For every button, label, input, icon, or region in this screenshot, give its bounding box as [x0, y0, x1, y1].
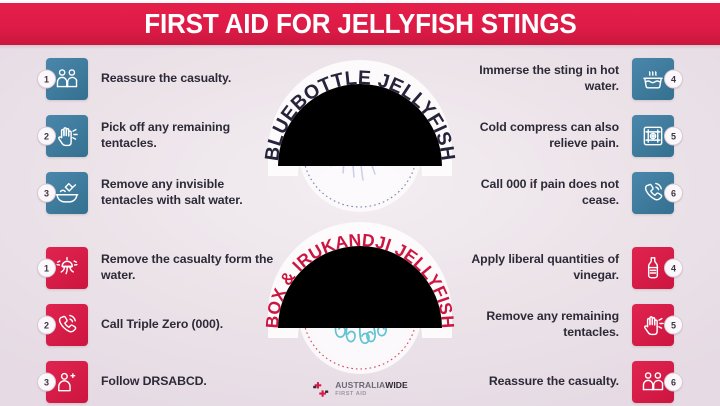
step-row-bluebottle-5[interactable]: Cold compress can also relieve pain. 5 — [442, 113, 674, 159]
step-icon-tile: 4 — [632, 247, 674, 289]
vinegar-bottle-icon — [640, 255, 666, 281]
step-icon-tile: 2 — [46, 115, 88, 157]
column-gap — [46, 227, 278, 245]
step-text: Call 000 if pain does not cease. — [442, 177, 619, 208]
brand-primary: AUSTRALIA — [335, 380, 385, 390]
step-row-box-4[interactable]: Apply liberal quantities of vinegar. 4 — [442, 245, 674, 291]
brand-tagline: FIRST AID — [335, 392, 408, 398]
phone-call-icon — [640, 180, 666, 206]
step-number-badge: 1 — [37, 259, 56, 278]
step-number-badge: 3 — [37, 184, 56, 203]
step-number-badge: 5 — [664, 127, 683, 146]
step-text: Immerse the sting in hot water. — [442, 63, 619, 94]
step-number-badge: 4 — [664, 70, 683, 89]
page-title: FIRST AID FOR JELLYFISH STINGS — [144, 8, 576, 40]
poster-header: FIRST AID FOR JELLYFISH STINGS — [0, 3, 720, 45]
brand-name: AUSTRALIAWIDE — [335, 381, 408, 390]
step-number-badge: 5 — [664, 316, 683, 335]
step-icon-tile: 1 — [46, 58, 88, 100]
step-text: Follow DRSABCD. — [101, 374, 207, 390]
hand-tentacles-icon — [640, 312, 666, 338]
step-row-bluebottle-2[interactable]: 2 Pick off any remaining tentacles. — [46, 113, 278, 159]
step-icon-tile: 6 — [632, 361, 674, 403]
step-row-box-6[interactable]: Reassure the casualty. 6 — [442, 359, 674, 405]
step-text: Remove the casualty form the water. — [101, 252, 278, 283]
hot-water-bucket-icon — [640, 66, 666, 92]
step-row-bluebottle-4[interactable]: Immerse the sting in hot water. 4 — [442, 56, 674, 102]
two-people-icon — [54, 66, 80, 92]
step-row-bluebottle-3[interactable]: 3 Remove any invisible tentacles with sa… — [46, 170, 278, 216]
step-icon-tile: 4 — [632, 58, 674, 100]
step-text: Remove any remaining tentacles. — [442, 309, 619, 340]
step-row-box-3[interactable]: 3 Follow DRSABCD. — [46, 359, 278, 405]
footer-brand-text: AUSTRALIAWIDE FIRST AID — [335, 381, 408, 397]
left-column: 1 Reassure the casualty. 2 Pick off any … — [46, 56, 278, 406]
footer-logo[interactable]: AUSTRALIAWIDE FIRST AID — [312, 381, 408, 398]
casualty-person-icon — [54, 369, 80, 395]
right-column: Immerse the sting in hot water. 4 Cold c… — [442, 56, 674, 406]
step-icon-tile: 3 — [46, 361, 88, 403]
step-text: Apply liberal quantities of vinegar. — [442, 252, 619, 283]
step-text: Reassure the casualty. — [442, 374, 619, 390]
step-number-badge: 4 — [664, 259, 683, 278]
phone-call-icon — [54, 312, 80, 338]
step-number-badge: 1 — [37, 70, 56, 89]
poster-canvas: FIRST AID FOR JELLYFISH STINGS 1 Reassur… — [0, 0, 720, 406]
step-row-bluebottle-6[interactable]: Call 000 if pain does not cease. 6 — [442, 170, 674, 216]
step-icon-tile: 5 — [632, 115, 674, 157]
brand-bold: WIDE — [385, 380, 408, 390]
step-number-badge: 6 — [664, 184, 683, 203]
step-number-badge: 2 — [37, 127, 56, 146]
emblem-box-irukandji: BOX & IRUKANDJI JELLYFISH — [262, 216, 458, 378]
bowl-salt-water-icon — [54, 180, 80, 206]
step-icon-tile: 6 — [632, 172, 674, 214]
step-icon-tile: 5 — [632, 304, 674, 346]
step-row-bluebottle-1[interactable]: 1 Reassure the casualty. — [46, 56, 278, 102]
hand-tentacles-icon — [54, 123, 80, 149]
step-number-badge: 6 — [664, 373, 683, 392]
two-people-icon — [640, 369, 666, 395]
step-text: Pick off any remaining tentacles. — [101, 120, 278, 151]
jellyfish-water-icon — [54, 255, 80, 281]
emblem-bluebottle-label: BLUEBOTTLE JELLYFISH — [262, 54, 458, 216]
step-row-box-2[interactable]: 2 Call Triple Zero (000). — [46, 302, 278, 348]
step-number-badge: 2 — [37, 316, 56, 335]
column-gap — [442, 227, 674, 245]
header-shadow — [0, 45, 720, 49]
emblem-box-label: BOX & IRUKANDJI JELLYFISH — [262, 216, 458, 378]
step-icon-tile: 3 — [46, 172, 88, 214]
step-icon-tile: 2 — [46, 304, 88, 346]
cold-compress-icon — [640, 123, 666, 149]
step-number-badge: 3 — [37, 373, 56, 392]
step-icon-tile: 1 — [46, 247, 88, 289]
step-text: Call Triple Zero (000). — [101, 317, 223, 333]
step-text: Remove any invisible tentacles with salt… — [101, 177, 278, 208]
first-aid-cross-icon — [312, 381, 329, 398]
step-row-box-5[interactable]: Remove any remaining tentacles. 5 — [442, 302, 674, 348]
step-text: Cold compress can also relieve pain. — [442, 120, 619, 151]
step-row-box-1[interactable]: 1 Remove the casualty form the water. — [46, 245, 278, 291]
step-text: Reassure the casualty. — [101, 71, 231, 87]
emblem-bluebottle: BLUEBOTTLE JELLYFISH — [262, 54, 458, 216]
